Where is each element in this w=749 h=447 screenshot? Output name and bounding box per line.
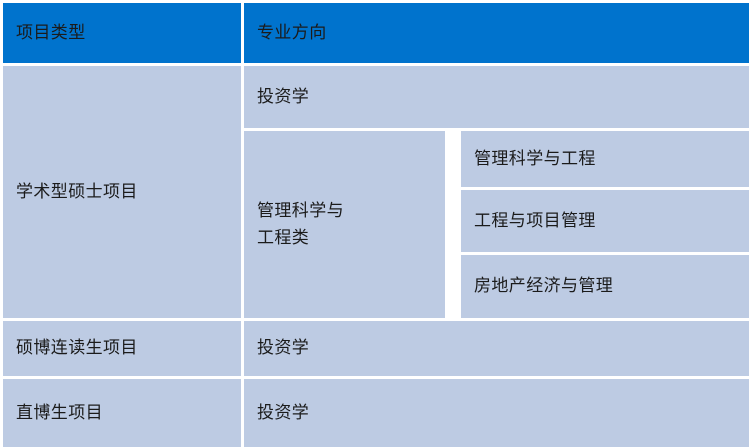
specialization-engineering-project-management: 工程与项目管理 <box>461 187 749 252</box>
table-header-row: 项目类型 专业方向 <box>0 0 749 63</box>
column-header-major-direction: 专业方向 <box>241 0 749 63</box>
program-major-table: 项目类型 专业方向 学术型硕士项目 投资学 管理科学与 工程类 管理科学与工程 <box>0 0 749 447</box>
program-type-master-phd-combined: 硕博连读生项目 <box>0 318 241 376</box>
specialization-row: 管理科学与工程 <box>461 131 749 187</box>
specialization-stack: 管理科学与工程 工程与项目管理 房地产经济与管理 <box>461 131 749 318</box>
direction-investment-master-phd-combined: 投资学 <box>241 318 749 376</box>
direction-investment-direct-phd: 投资学 <box>241 376 749 447</box>
program-type-academic-master: 学术型硕士项目 <box>0 63 241 318</box>
specialization-management-science-engineering: 管理科学与工程 <box>461 131 749 187</box>
specialization-row: 房地产经济与管理 <box>461 252 749 318</box>
table-row: 直博生项目 投资学 <box>0 376 749 447</box>
specialization-real-estate-economics-management: 房地产经济与管理 <box>461 252 749 318</box>
program-type-direct-phd: 直博生项目 <box>0 376 241 447</box>
table-row: 学术型硕士项目 投资学 <box>0 63 749 128</box>
specialization-row: 工程与项目管理 <box>461 187 749 252</box>
direction-label: 管理科学与 工程类 <box>257 201 344 246</box>
direction-management-science-engineering-group: 管理科学与 工程类 <box>241 128 445 318</box>
column-header-program-type: 项目类型 <box>0 0 241 63</box>
direction-investment-academic-master: 投资学 <box>241 63 749 128</box>
specialization-list-cell: 管理科学与工程 工程与项目管理 房地产经济与管理 <box>445 128 749 318</box>
table-row: 硕博连读生项目 投资学 <box>0 318 749 376</box>
